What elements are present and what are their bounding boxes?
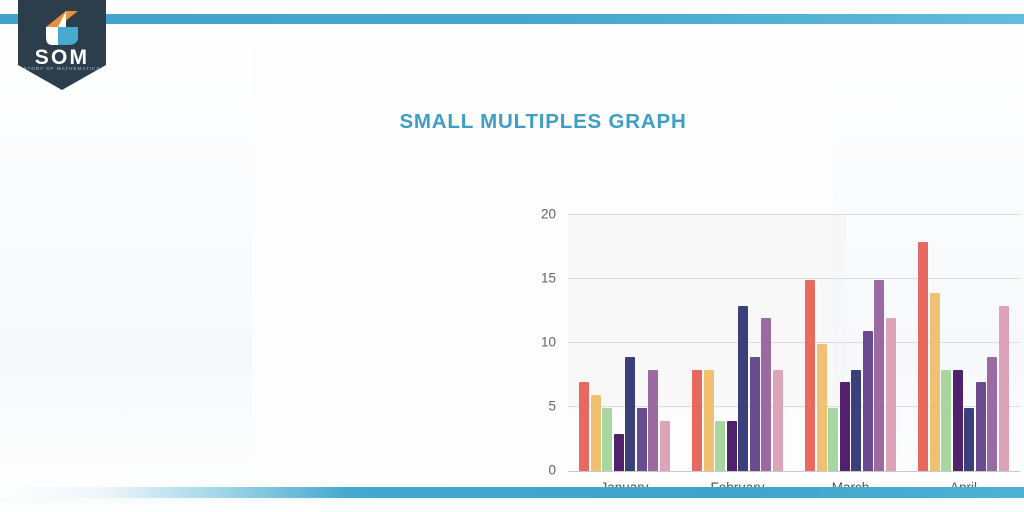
som-logo-mark-icon [46, 11, 78, 45]
bar[interactable] [773, 370, 783, 472]
y-axis-tick-label: 15 [541, 271, 556, 286]
bar[interactable] [964, 408, 974, 472]
y-axis-tick-label: 10 [541, 335, 556, 350]
bar[interactable] [918, 242, 928, 472]
bar[interactable] [738, 306, 748, 472]
y-axis-tick-label: 5 [548, 399, 556, 414]
plot-area: 05101520 JanuaryFebruaryMarchApril [568, 214, 1020, 472]
bar[interactable] [863, 331, 873, 472]
bar[interactable] [805, 280, 815, 472]
bar[interactable] [727, 421, 737, 472]
bar[interactable] [941, 370, 951, 472]
bar[interactable] [851, 370, 861, 472]
bar-group [568, 216, 681, 472]
bar[interactable] [750, 357, 760, 472]
som-logo-tagline: STORY OF MATHEMATICS [18, 66, 106, 71]
bar[interactable] [840, 382, 850, 472]
bar-group [907, 216, 1020, 472]
bar[interactable] [648, 370, 658, 472]
bar[interactable] [987, 357, 997, 472]
bar[interactable] [637, 408, 647, 472]
y-axis-tick-label: 0 [548, 463, 556, 478]
bar[interactable] [625, 357, 635, 472]
chart-title: SMALL MULTIPLES GRAPH [252, 110, 834, 134]
bar[interactable] [930, 293, 940, 472]
bar[interactable] [704, 370, 714, 472]
chart-card: SMALL MULTIPLES GRAPH 05101520 JanuaryFe… [252, 42, 834, 474]
bar[interactable] [817, 344, 827, 472]
gridline: 20 [568, 214, 1020, 215]
bar[interactable] [602, 408, 612, 472]
bar[interactable] [874, 280, 884, 472]
bar[interactable] [660, 421, 670, 472]
x-axis-line [568, 471, 1020, 473]
y-axis-tick-label: 20 [541, 207, 556, 222]
bar-group [794, 216, 907, 472]
bar-groups [568, 216, 1020, 472]
bar[interactable] [692, 370, 702, 472]
bar-group [681, 216, 794, 472]
bottom-fade [0, 498, 1024, 512]
bar[interactable] [953, 370, 963, 472]
bar[interactable] [715, 421, 725, 472]
bar[interactable] [614, 434, 624, 472]
bar[interactable] [591, 395, 601, 472]
bar[interactable] [761, 318, 771, 472]
bar[interactable] [976, 382, 986, 472]
bar[interactable] [886, 318, 896, 472]
bar[interactable] [828, 408, 838, 472]
bottom-accent-bar [0, 487, 1024, 498]
top-accent-bar [0, 14, 1024, 24]
bar[interactable] [579, 382, 589, 472]
bar[interactable] [999, 306, 1009, 472]
